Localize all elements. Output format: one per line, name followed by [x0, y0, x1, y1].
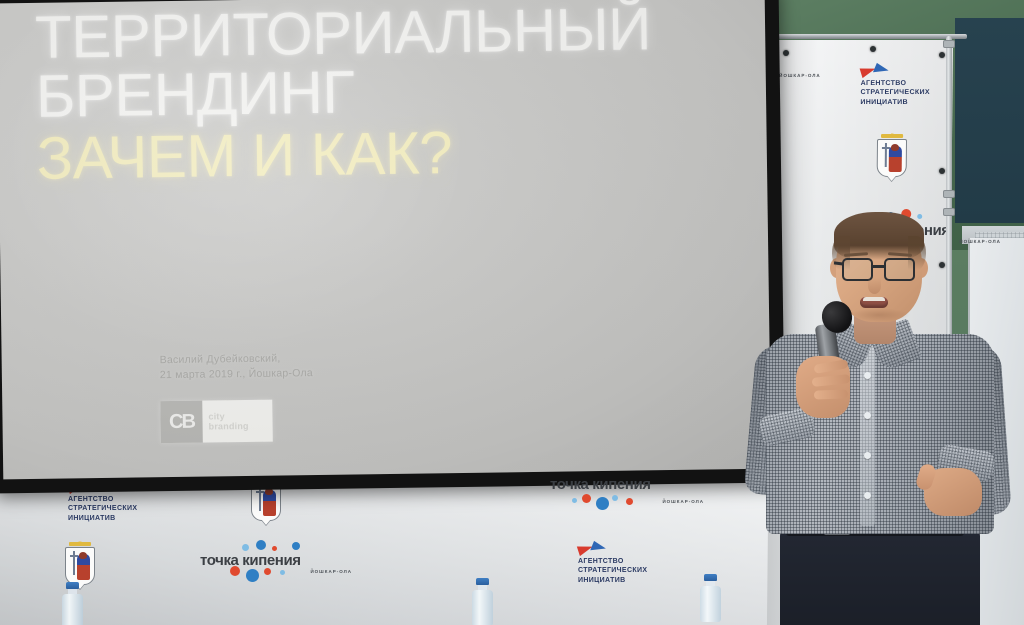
coa-crown-band	[881, 134, 903, 138]
asi-logo: АГЕНТСТВО СТРАТЕГИЧЕСКИХ ИНИЦИАТИВ	[578, 542, 647, 585]
banner-grommet	[939, 168, 945, 174]
bottle-cap	[476, 578, 489, 585]
boiling-point-logo-center: точка кипения ЙОШКАР-ОЛА	[200, 542, 360, 582]
projection-screen-surface: ТЕРРИТОРИАЛЬНЫЙ БРЕНДИНГ ЗАЧЕМ И КАК? Ва…	[0, 0, 771, 479]
coa-shield	[65, 547, 95, 585]
citybranding-monogram: CB	[160, 401, 203, 444]
tk-dot-icon	[292, 542, 300, 550]
speaker	[742, 196, 1024, 625]
slide-title-line2: БРЕНДИНГ	[36, 57, 767, 126]
banner-grommet	[939, 52, 945, 58]
coat-of-arms-mari-el	[874, 128, 911, 184]
asi-logo-text: АГЕНТСТВО СТРАТЕГИЧЕСКИХ ИНИЦИАТИВ	[68, 495, 137, 523]
speaker-nose	[868, 278, 881, 294]
asi-logo-text: АГЕНТСТВО СТРАТЕГИЧЕСКИХ ИНИЦИАТИВ	[860, 79, 930, 107]
coa-shield-tip	[261, 519, 271, 525]
bottle-body	[700, 586, 721, 622]
shirt-button	[864, 372, 871, 379]
tk-dot-icon	[256, 540, 266, 550]
slide-title: ТЕРРИТОРИАЛЬНЫЙ БРЕНДИНГ	[35, 0, 767, 126]
citybranding-word-city: city	[208, 411, 248, 422]
backdrop-banner-horizontal: АГЕНТСТВО СТРАТЕГИЧЕСКИХ ИНИЦИАТИВ	[0, 470, 772, 625]
boiling-point-sub: ЙОШКАР-ОЛА	[779, 73, 821, 78]
coa-shield-tip	[887, 175, 897, 181]
presentation-slide: ТЕРРИТОРИАЛЬНЫЙ БРЕНДИНГ ЗАЧЕМ И КАК? Ва…	[0, 0, 771, 479]
asi-arrows-icon	[861, 64, 895, 77]
slide-credit-date-place: 21 марта 2019 г., Йошкар-Ола	[160, 366, 313, 383]
tk-dot-icon	[626, 498, 633, 505]
projection-screen: ТЕРРИТОРИАЛЬНЫЙ БРЕНДИНГ ЗАЧЕМ И КАК? Ва…	[0, 0, 785, 493]
citybranding-wordmark: city branding	[208, 411, 248, 432]
water-bottle	[472, 578, 493, 625]
bottle-body	[472, 590, 493, 625]
boiling-point-sub: ЙОШКАР-ОЛА	[310, 569, 352, 574]
boiling-point-sub: ЙОШКАР-ОЛА	[662, 499, 704, 504]
glasses-lens-right	[884, 258, 915, 281]
coa-bear-head	[891, 144, 899, 151]
coa-bear-head	[79, 552, 87, 559]
tk-dot-icon	[264, 568, 271, 575]
coa-shield	[877, 139, 907, 177]
speaker-chin-shadow	[848, 308, 910, 322]
tk-dot-icon	[596, 497, 609, 510]
shirt-button	[864, 492, 871, 499]
tk-dot-icon	[582, 494, 591, 503]
asi-arrows-icon	[578, 542, 612, 555]
citybranding-logo: CB city branding	[160, 400, 273, 444]
banner-frame-top-rail	[762, 34, 967, 39]
banner-frame-clip	[943, 40, 955, 48]
banner-grommet	[783, 50, 789, 56]
asi-logo-text: АГЕНТСТВО СТРАТЕГИЧЕСКИХ ИНИЦИАТИВ	[578, 557, 647, 585]
coa-crown-band	[69, 542, 91, 546]
tk-dot-icon	[272, 546, 277, 551]
boiling-point-wordmark: точка кипения	[200, 552, 360, 569]
tk-dot-icon	[280, 570, 285, 575]
bottle-body	[62, 594, 83, 625]
slide-subtitle: ЗАЧЕМ И КАК?	[36, 118, 767, 188]
bottle-cap	[704, 574, 717, 581]
citybranding-word-branding: branding	[209, 421, 249, 432]
bottle-cap	[66, 582, 79, 589]
asi-logo: АГЕНТСТВО СТРАТЕГИЧЕСКИХ ИНИЦИАТИВ	[860, 64, 930, 107]
tk-dot-icon	[572, 498, 577, 503]
glasses-bridge	[873, 265, 884, 268]
boiling-point-wordmark: точка кипения	[550, 476, 651, 493]
finger	[814, 389, 848, 399]
wall-teal-panel	[955, 18, 1024, 223]
speaker-trousers	[780, 526, 980, 625]
presentation-photo-scene: АГЕНТСТВО СТРАТЕГИЧЕСКИХ ИНИЦИАТИВ	[0, 0, 1024, 625]
tk-dot-icon	[242, 544, 249, 551]
shirt-button	[864, 452, 871, 459]
tk-dot-icon	[612, 495, 618, 501]
tk-dot-icon	[246, 569, 259, 582]
slide-credit: Василий Дубейковский, 21 марта 2019 г., …	[160, 351, 314, 384]
banner-grommet	[870, 46, 876, 52]
water-bottle	[700, 574, 721, 622]
speaker-teeth	[863, 297, 885, 301]
shirt-button	[864, 412, 871, 419]
water-bottle	[62, 582, 83, 625]
